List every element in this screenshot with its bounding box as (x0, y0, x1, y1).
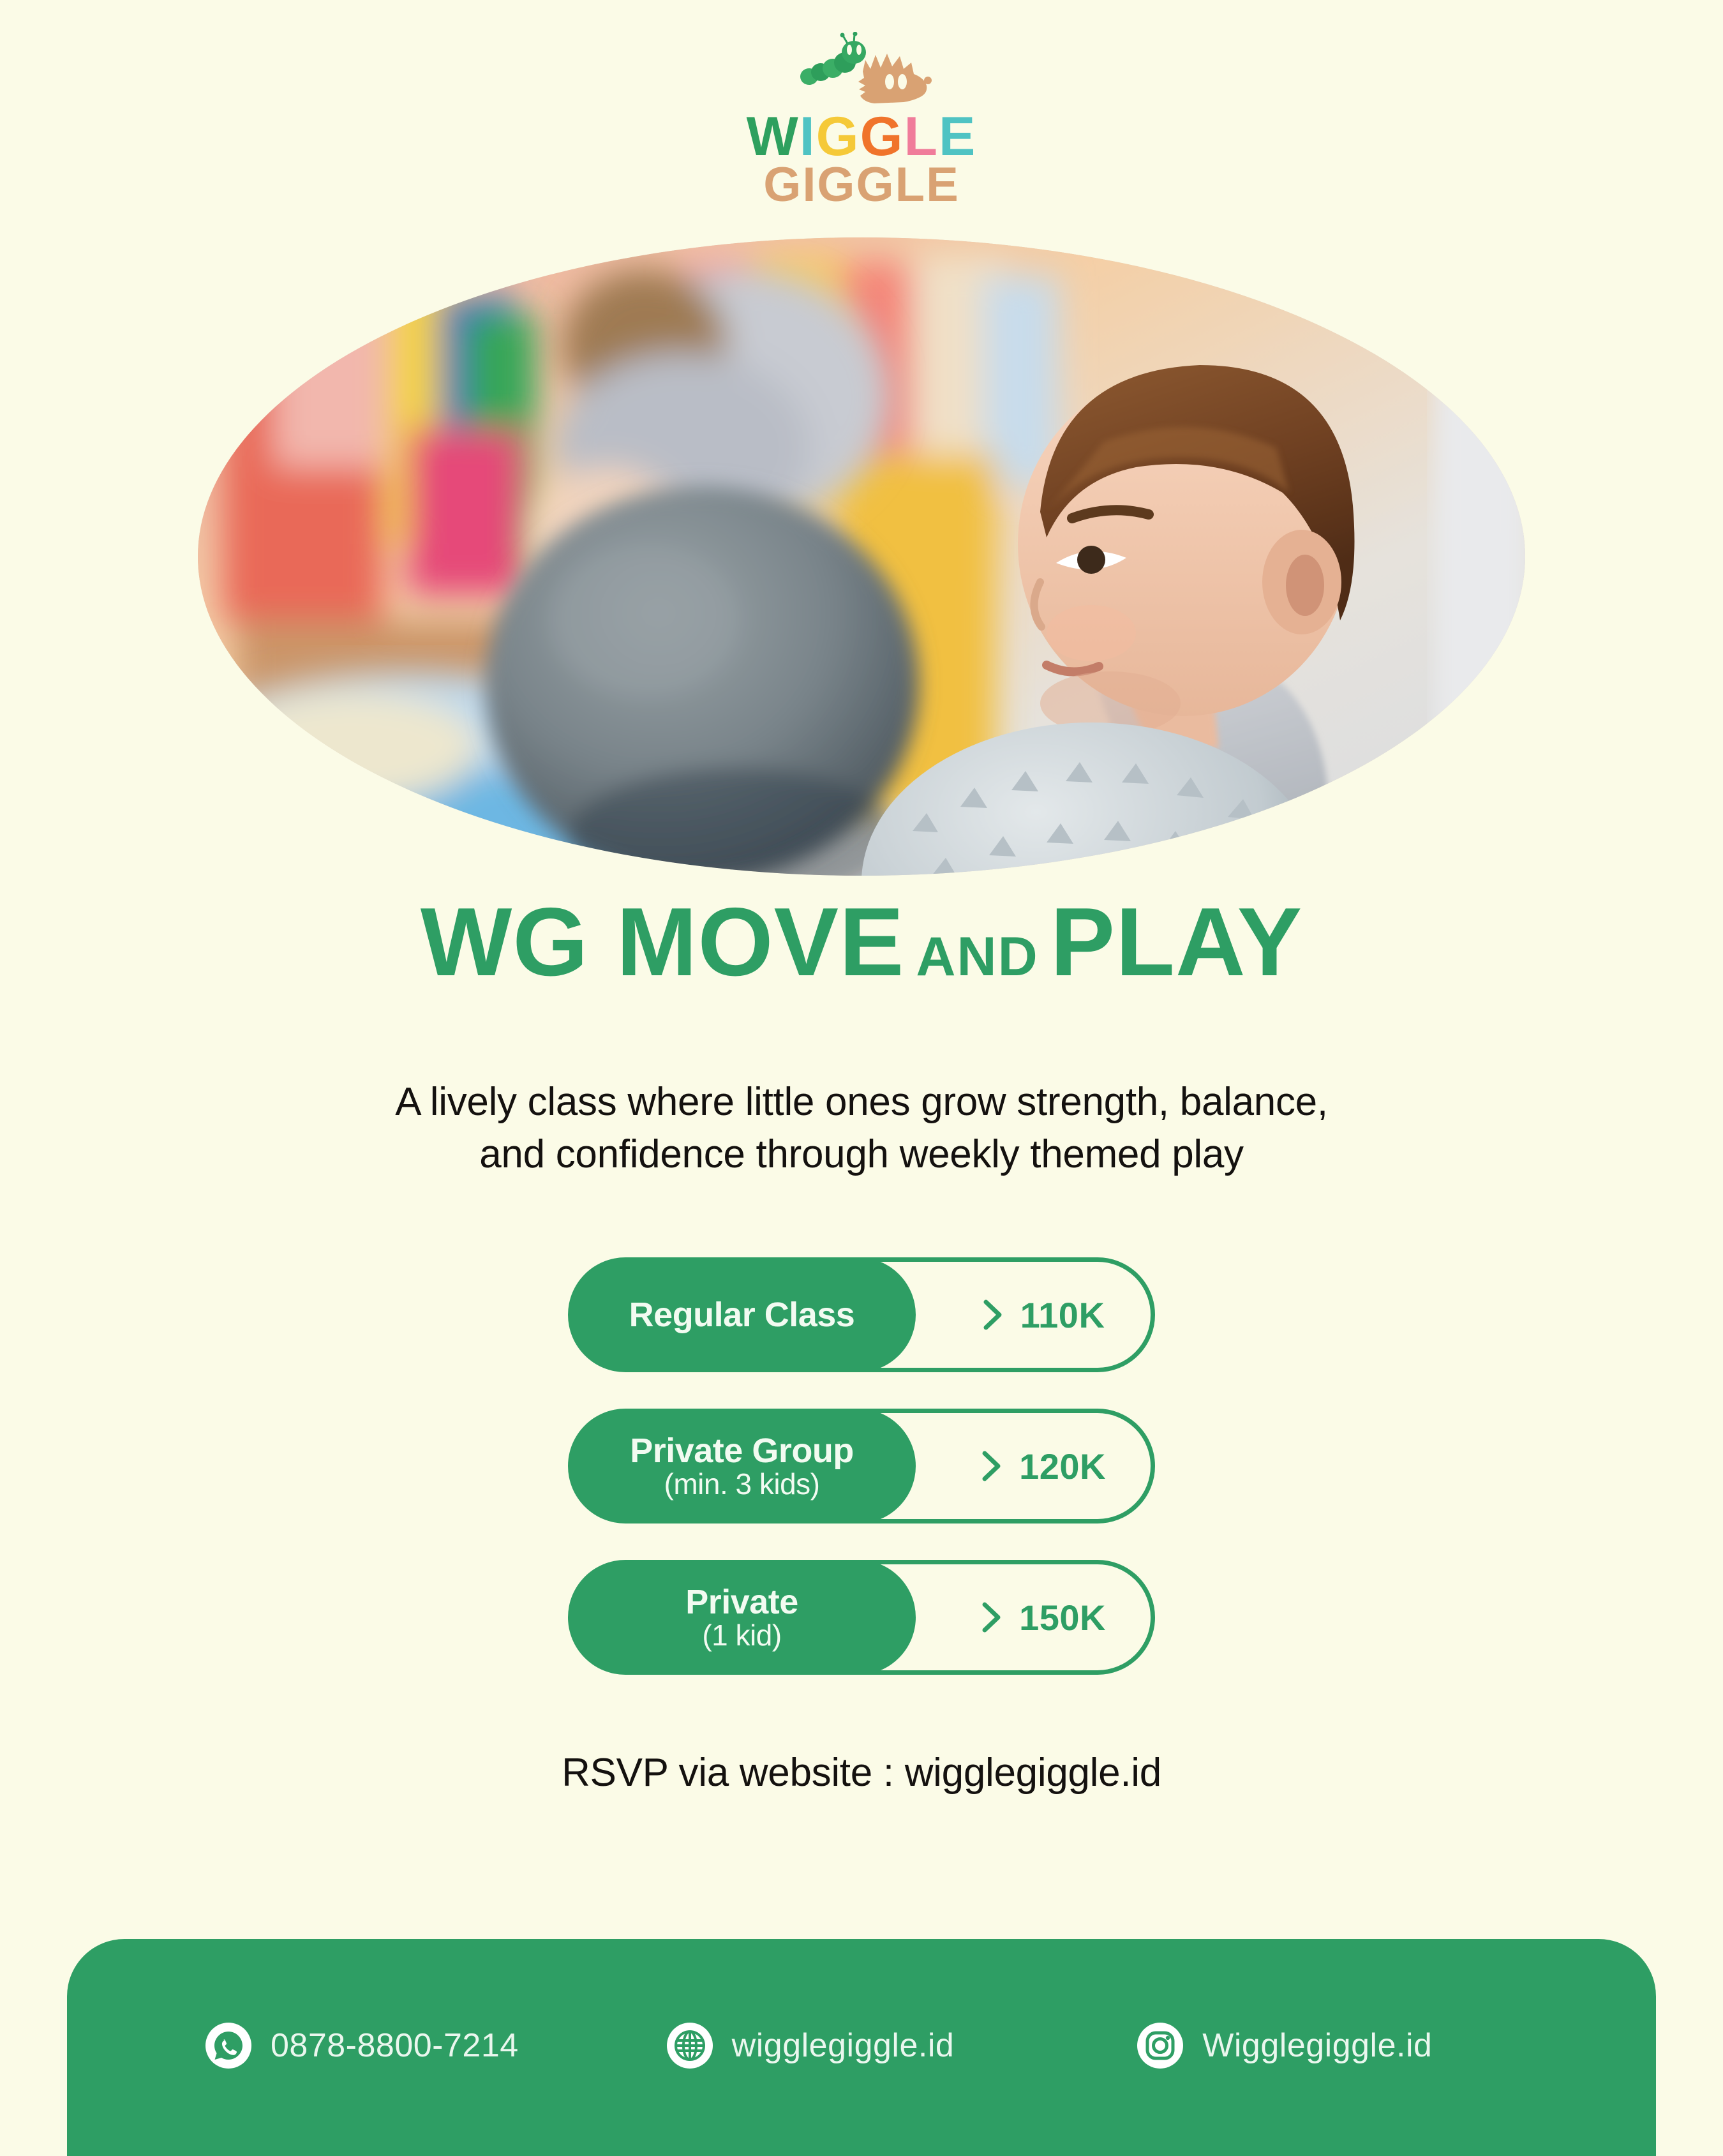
title-part-1: WG MOVE (421, 888, 905, 996)
subtitle-line-1: A lively class where little ones grow st… (255, 1076, 1468, 1128)
pill-label-area: Private (1 kid) (568, 1560, 916, 1675)
pill-price-area: 150K (932, 1560, 1155, 1675)
contact-whatsapp[interactable]: 0878-8800-7214 (204, 2021, 519, 2070)
contact-text: wigglegiggle.id (732, 2026, 955, 2065)
instagram-icon (1136, 2021, 1184, 2070)
page-title: WG MOVEANDPLAY (0, 894, 1723, 991)
pill-label: Private Group (630, 1433, 854, 1469)
logo-letter: I (800, 111, 816, 163)
subtitle: A lively class where little ones grow st… (255, 1076, 1468, 1181)
pill-label: Private (685, 1584, 798, 1621)
pricing-list: 110K Regular Class 120K Private Group (m… (568, 1257, 1155, 1711)
caterpillar-hedgehog-icon (779, 32, 944, 109)
title-part-3: PLAY (1050, 888, 1302, 996)
pill-price: 110K (1020, 1294, 1105, 1336)
logo-wordmark-wiggle: WIGGLE (747, 111, 977, 163)
chevron-right-icon (981, 1601, 1003, 1633)
hero-blob-mask (198, 237, 1525, 876)
contact-text: 0878-8800-7214 (271, 2026, 519, 2065)
logo-wordmark-giggle: GIGGLE (763, 161, 960, 209)
title-part-2: AND (916, 926, 1038, 987)
subtitle-line-2: and confidence through weekly themed pla… (255, 1128, 1468, 1181)
pill-label-area: Regular Class (568, 1257, 916, 1372)
footer-bar: 0878-8800-7214 wigglegiggle.id (67, 1939, 1656, 2156)
contact-text: Wigglegiggle.id (1202, 2026, 1432, 2065)
logo-letter: G (816, 111, 860, 163)
whatsapp-icon (204, 2021, 253, 2070)
hero-image (198, 237, 1525, 876)
chevron-right-icon (981, 1450, 1003, 1482)
pricing-item-private-group[interactable]: 120K Private Group (min. 3 kids) (568, 1409, 1155, 1523)
rsvp-text: RSVP via website : wigglegiggle.id (0, 1750, 1723, 1795)
chevron-right-icon (982, 1299, 1004, 1331)
footer-contacts: 0878-8800-7214 wigglegiggle.id (67, 2017, 1656, 2074)
hero-photo (198, 237, 1525, 876)
logo-letter: E (939, 111, 976, 163)
pill-price: 150K (1019, 1597, 1106, 1638)
logo-letter: W (747, 111, 800, 163)
logo-letter: G (860, 111, 904, 163)
pill-price: 120K (1019, 1446, 1106, 1487)
pill-sublabel: (min. 3 kids) (664, 1469, 820, 1499)
contact-instagram[interactable]: Wigglegiggle.id (1136, 2021, 1432, 2070)
brand-logo: WIGGLE GIGGLE (0, 32, 1723, 209)
globe-icon (666, 2021, 714, 2070)
pricing-item-private[interactable]: 150K Private (1 kid) (568, 1560, 1155, 1675)
pill-label-area: Private Group (min. 3 kids) (568, 1409, 916, 1523)
pill-label: Regular Class (629, 1297, 855, 1333)
pricing-item-regular-class[interactable]: 110K Regular Class (568, 1257, 1155, 1372)
logo-letter: L (904, 111, 939, 163)
pill-price-area: 110K (932, 1257, 1155, 1372)
pill-sublabel: (1 kid) (702, 1620, 781, 1651)
pill-price-area: 120K (932, 1409, 1155, 1523)
contact-website[interactable]: wigglegiggle.id (666, 2021, 955, 2070)
